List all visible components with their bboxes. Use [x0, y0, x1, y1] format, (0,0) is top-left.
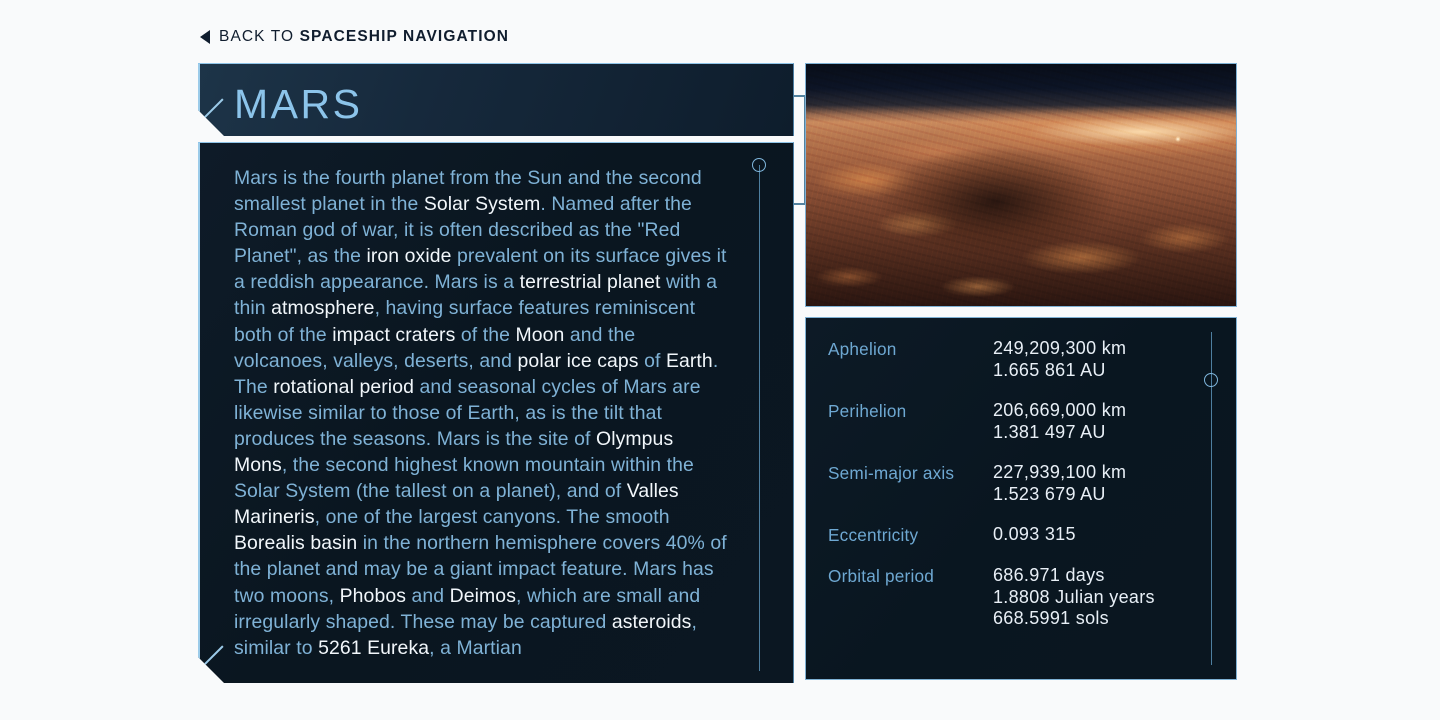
data-row-values: 686.971 days1.8808 Julian years668.5991 …	[993, 565, 1155, 630]
text-panel-left-edge	[198, 143, 200, 683]
article-link[interactable]: Solar System	[424, 193, 541, 215]
data-row: Orbital period686.971 days1.8808 Julian …	[828, 565, 1186, 630]
planet-description-text: Mars is the fourth planet from the Sun a…	[234, 165, 730, 661]
planet-title-panel: MARS	[198, 63, 794, 136]
planet-image-panel[interactable]	[805, 63, 1237, 307]
article-link[interactable]: 5261 Eureka	[318, 637, 429, 659]
planet-detail-column: MARS Mars is the fourth planet from the …	[198, 63, 794, 683]
article-link[interactable]: polar ice caps	[518, 350, 639, 372]
data-panel-scrollbar[interactable]	[1202, 332, 1220, 665]
data-value-line: 206,669,000 km	[993, 400, 1126, 422]
article-text-run: of the	[455, 324, 515, 346]
article-link[interactable]: Phobos	[340, 585, 406, 607]
article-text-run: , one of the largest canyons. The smooth	[315, 506, 670, 528]
circle-handle-icon[interactable]	[1204, 373, 1218, 387]
data-row-label: Orbital period	[828, 565, 993, 630]
triangle-left-icon	[200, 30, 210, 44]
data-row: Perihelion206,669,000 km1.381 497 AU	[828, 400, 1186, 443]
back-link-target: SPACESHIP NAVIGATION	[300, 28, 509, 45]
article-link[interactable]: atmosphere	[271, 297, 374, 319]
planet-media-column: Aphelion249,209,300 km1.665 861 AUPerihe…	[805, 63, 1237, 680]
data-value-line: 1.665 861 AU	[993, 360, 1126, 382]
article-link[interactable]: Deimos	[450, 585, 516, 607]
data-row-values: 0.093 315	[993, 524, 1076, 546]
circle-handle-icon[interactable]	[752, 158, 766, 172]
description-scrollbar[interactable]	[749, 153, 769, 673]
article-link[interactable]: terrestrial planet	[520, 271, 661, 293]
data-row: Semi-major axis227,939,100 km1.523 679 A…	[828, 462, 1186, 505]
article-text-run: and	[406, 585, 450, 607]
data-row-label: Semi-major axis	[828, 462, 993, 505]
data-row-values: 206,669,000 km1.381 497 AU	[993, 400, 1126, 443]
orbital-data-list: Aphelion249,209,300 km1.665 861 AUPerihe…	[828, 338, 1186, 630]
article-link[interactable]: iron oxide	[366, 245, 451, 267]
article-link[interactable]: Earth	[666, 350, 713, 372]
data-value-line: 686.971 days	[993, 565, 1155, 587]
description-scrollbar-track[interactable]	[759, 165, 760, 671]
data-row-label: Eccentricity	[828, 524, 993, 546]
article-link[interactable]: Moon	[516, 324, 565, 346]
orbital-characteristics-panel: Aphelion249,209,300 km1.665 861 AUPerihe…	[805, 317, 1237, 680]
article-link[interactable]: rotational period	[273, 376, 414, 398]
article-link[interactable]: Borealis basin	[234, 532, 357, 554]
data-value-line: 1.381 497 AU	[993, 422, 1126, 444]
back-link-prefix: BACK TO	[219, 28, 300, 45]
data-value-line: 1.523 679 AU	[993, 484, 1126, 506]
data-value-line: 668.5991 sols	[993, 608, 1155, 630]
article-text-run: , the second highest known mountain with…	[234, 454, 694, 502]
panel-corner-bevel	[198, 645, 224, 673]
data-row-values: 227,939,100 km1.523 679 AU	[993, 462, 1126, 505]
article-link[interactable]: asteroids	[612, 611, 692, 633]
data-value-line: 227,939,100 km	[993, 462, 1126, 484]
article-text-run: of	[639, 350, 666, 372]
page-title: MARS	[234, 81, 362, 128]
data-value-line: 0.093 315	[993, 524, 1076, 546]
data-value-line: 249,209,300 km	[993, 338, 1126, 360]
data-row-label: Aphelion	[828, 338, 993, 381]
article-link[interactable]: impact craters	[332, 324, 455, 346]
planet-description-panel: Mars is the fourth planet from the Sun a…	[198, 142, 794, 683]
data-row: Aphelion249,209,300 km1.665 861 AU	[828, 338, 1186, 381]
back-to-navigation-link[interactable]: BACK TO SPACESHIP NAVIGATION	[200, 28, 509, 46]
data-row-values: 249,209,300 km1.665 861 AU	[993, 338, 1126, 381]
title-panel-left-edge	[198, 64, 200, 136]
data-row: Eccentricity0.093 315	[828, 524, 1186, 546]
data-value-line: 1.8808 Julian years	[993, 587, 1155, 609]
image-texture-overlay	[806, 64, 1236, 306]
back-link-label: BACK TO SPACESHIP NAVIGATION	[219, 28, 509, 46]
article-text-run: , a Martian	[429, 637, 522, 659]
data-row-label: Perihelion	[828, 400, 993, 443]
